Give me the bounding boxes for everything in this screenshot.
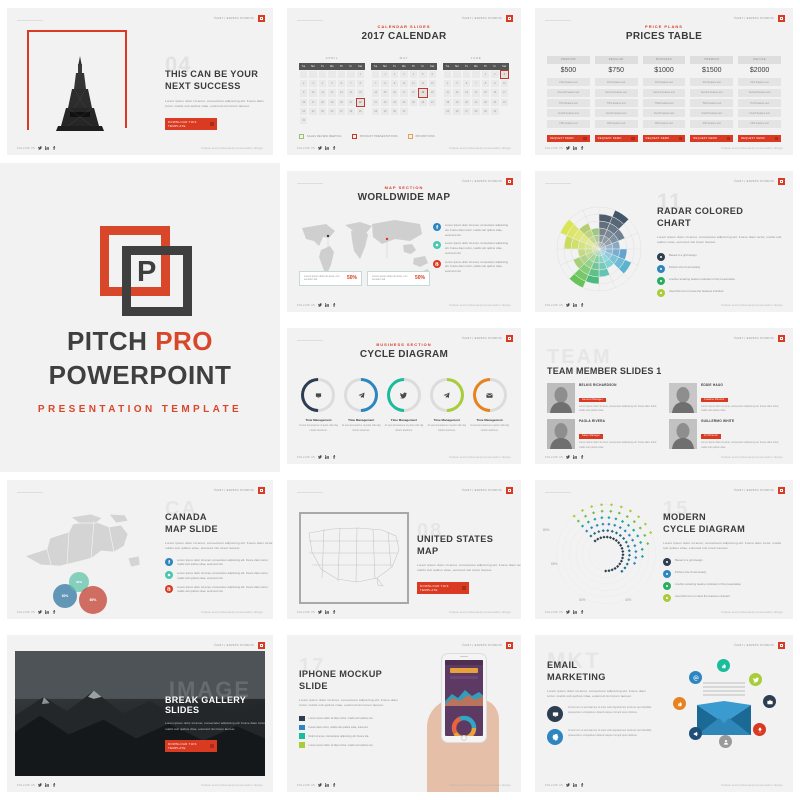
- calendar-day[interactable]: 24: [500, 98, 509, 107]
- plan-feature: First Feature text: [690, 78, 733, 86]
- cycle-step-text: At sed accusamus ut justo odio dig nissi…: [340, 424, 383, 433]
- cycle-heading: BUSINESS SECTION CYCLE DIAGRAM: [287, 342, 521, 360]
- slide-break-gallery[interactable]: ©2017 | ENVATO STUDIOS IMAGE BREAK GALLE…: [7, 635, 273, 792]
- document-lines-icon: [701, 681, 747, 697]
- calendar-day[interactable]: 9: [299, 88, 308, 97]
- gallery-text-block: BREAK GALLERY SLIDES Lorem ipsum dolor s…: [165, 695, 265, 752]
- header-dash: [545, 20, 571, 21]
- header-dash: [17, 20, 43, 21]
- calendar-day[interactable]: 28: [471, 107, 480, 116]
- calendar-day[interactable]: 28: [371, 107, 380, 116]
- home-button[interactable]: [461, 735, 467, 741]
- team-member-card[interactable]: BELKIS RICHARDSONGeneral ManagerLorem ip…: [547, 383, 659, 413]
- slide-modern-cycle[interactable]: ©2017 | ENVATO STUDIOS 80%65%50%40% 15 M…: [535, 480, 793, 619]
- plan-feature: First Feature text: [547, 78, 590, 86]
- slide-calendar[interactable]: ©2017 | ENVATO STUDIOS CALENDAR SLIDES 2…: [287, 8, 521, 155]
- linkedin-icon[interactable]: [325, 146, 329, 150]
- footer-tagline: Unique and professional presentation des…: [201, 611, 263, 614]
- briefcase-icon[interactable]: [763, 695, 776, 708]
- calendar-day[interactable]: 22: [356, 98, 365, 107]
- linkedin-icon[interactable]: [573, 783, 577, 787]
- facebook-icon: [433, 223, 441, 231]
- facebook-icon[interactable]: [580, 610, 584, 614]
- avatar: [669, 383, 697, 413]
- linkedin-icon[interactable]: [325, 455, 329, 459]
- calendar-day[interactable]: 6: [462, 79, 471, 88]
- twitter-icon[interactable]: [318, 303, 322, 307]
- member-name: GUILLERMO WHITE: [701, 419, 781, 423]
- twitter-icon[interactable]: [38, 610, 42, 614]
- team-member-card[interactable]: GUILLERMO WHITEArt DirectorLorem ipsum d…: [669, 419, 781, 449]
- slide-next-success[interactable]: ©2017 | ENVATO STUDIOS 04 THIS CAN BE YO…: [7, 8, 273, 155]
- calendar-day[interactable]: 14: [346, 88, 355, 97]
- calendar-day[interactable]: 17: [399, 88, 408, 97]
- linkedin-icon[interactable]: [325, 610, 329, 614]
- download-arrow-icon: [210, 744, 214, 748]
- bullet-text: Lorem ipsum dolor sit amet, consectetur …: [445, 223, 511, 237]
- brand-mark-icon: [258, 487, 265, 494]
- plan-feature: Third Feature text: [643, 99, 686, 107]
- calendar-day[interactable]: 1: [356, 70, 365, 79]
- slide-united-states-map[interactable]: ©2017 | ENVATO STUDIOS 08 UNITED STATES …: [287, 480, 521, 619]
- slide-cycle-diagram[interactable]: ©2017 | ENVATO STUDIOS BUSINESS SECTION …: [287, 328, 521, 464]
- calendar-day[interactable]: 27: [428, 98, 437, 107]
- team-member-card[interactable]: PAOLA RIVERASales ManagerLorem ipsum dol…: [547, 419, 659, 449]
- calendar-day[interactable]: 11: [409, 79, 418, 88]
- calendar-day[interactable]: 18: [318, 98, 327, 107]
- hero-title-line2: POWERPOINT: [49, 360, 232, 391]
- slide-title-line2: NEXT SUCCESS: [165, 80, 273, 92]
- download-button[interactable]: DOWNLOAD THIS TEMPLATE: [417, 582, 469, 594]
- user-icon[interactable]: [719, 735, 732, 748]
- calendar-day[interactable]: 18: [443, 98, 452, 107]
- price-column: REGULAR$750First Feature textSecond Feat…: [595, 56, 638, 142]
- cycle-step-heading: Time Management: [340, 418, 383, 422]
- team-member-info: BELKIS RICHARDSONGeneral ManagerLorem ip…: [579, 383, 659, 413]
- calendar-day[interactable]: 9: [390, 79, 399, 88]
- at-icon[interactable]: [689, 671, 702, 684]
- calendar-day[interactable]: 2: [390, 70, 399, 79]
- slide-footer: FOLLOW US Unique and professional presen…: [297, 610, 511, 614]
- calendar-day[interactable]: 20: [462, 98, 471, 107]
- slide-header: ©2017 | ENVATO STUDIOS: [214, 642, 265, 649]
- facebook-icon[interactable]: [52, 610, 56, 614]
- follow-us-label: FOLLOW US: [17, 784, 35, 787]
- follow-us-label: FOLLOW US: [545, 304, 563, 307]
- calendar-blank: [452, 70, 461, 79]
- bullet-item: Lorem ipsum dolor sit amet, consectetur …: [433, 241, 511, 255]
- calendar-day[interactable]: 5: [418, 70, 427, 79]
- calendar-day[interactable]: 29: [380, 107, 389, 116]
- team-member-card[interactable]: EDDIE HAUGCreative DirectorLorem ipsum d…: [669, 383, 781, 413]
- calendar-day[interactable]: 15: [481, 88, 490, 97]
- slide-worldwide-map[interactable]: ©2017 | ENVATO STUDIOS MAP SECTION WORLD…: [287, 171, 521, 312]
- cycle-step[interactable]: Time ManagementAt sed accusamus ut justo…: [425, 378, 468, 433]
- slide-header: ©2017 | ENVATO STUDIOS: [214, 15, 265, 22]
- slide-team-members[interactable]: ©2017 | ENVATO STUDIOS TEAM TEAM MEMBER …: [535, 328, 793, 464]
- weekday-header: Sat: [356, 63, 365, 70]
- calendar-day[interactable]: 22: [481, 98, 490, 107]
- calendar-day[interactable]: 19: [452, 98, 461, 107]
- plan-feature: Fourth Feature text: [738, 109, 781, 117]
- calendar-day[interactable]: 30: [490, 107, 499, 116]
- calendar-legend-item: PROMOTIONS: [408, 134, 435, 139]
- request-demo-label: REQUEST DEMO: [693, 137, 717, 140]
- follow-us-label: FOLLOW US: [17, 147, 35, 150]
- calendar-day[interactable]: 26: [452, 107, 461, 116]
- footer-tagline: Unique and professional presentation des…: [449, 611, 511, 614]
- facebook-icon[interactable]: [580, 455, 584, 459]
- facebook-icon[interactable]: [332, 303, 336, 307]
- modern-text-block: 15 MODERN CYCLE DIAGRAM Lorem ipsum dolo…: [663, 500, 785, 606]
- twitter-icon[interactable]: [566, 783, 570, 787]
- calendar-blank: [471, 70, 480, 79]
- linkedin-icon[interactable]: [573, 146, 577, 150]
- arrow-icon: [679, 137, 682, 140]
- slide-title-line2: SLIDES: [165, 705, 265, 715]
- slide-title-line1: BREAK GALLERY: [165, 695, 265, 705]
- calendar-day[interactable]: 18: [409, 88, 418, 97]
- linkedin-icon[interactable]: [573, 455, 577, 459]
- linkedin-icon[interactable]: [45, 783, 49, 787]
- member-bio: Lorem ipsum dolor sit amet, consectetur …: [701, 441, 781, 449]
- calendar-day[interactable]: 22: [380, 98, 389, 107]
- linkedin-icon[interactable]: [573, 610, 577, 614]
- cycle-step-heading: Time Management: [425, 418, 468, 422]
- header-credit: ©2017 | ENVATO STUDIOS: [462, 337, 502, 340]
- calendar-day[interactable]: 12: [418, 79, 427, 88]
- calendar-day[interactable]: 2: [490, 70, 499, 79]
- calendar-day[interactable]: 4: [409, 70, 418, 79]
- slide-body-text: Lorem ipsum dolor sit amet, consectetur …: [299, 698, 405, 709]
- bullet-text: Perfect size fit accurately: [669, 265, 700, 273]
- slide-body-text: Lorem ipsum dolor sit amet, consectetur …: [663, 541, 785, 552]
- calendar-day[interactable]: 1: [481, 70, 490, 79]
- calendar-day[interactable]: 11: [318, 88, 327, 97]
- slide-radar-chart[interactable]: ©2017 | ENVATO STUDIOS 11 RADAR COLORED …: [535, 171, 793, 312]
- facebook-icon: [165, 558, 173, 566]
- bullet-item: Another amazing feature included in this…: [657, 277, 782, 285]
- calendar-day[interactable]: 29: [356, 107, 365, 116]
- avatar: [547, 419, 575, 449]
- download-button[interactable]: DOWNLOAD THIS TEMPLATE: [165, 740, 217, 752]
- radar-text-block: 11 RADAR COLORED CHART Lorem ipsum dolor…: [657, 193, 782, 301]
- linkedin-icon[interactable]: [325, 783, 329, 787]
- calendar-day[interactable]: 16: [490, 88, 499, 97]
- plan-price: $1500: [690, 66, 733, 76]
- calendar-blank: [327, 70, 336, 79]
- calendar-day[interactable]: 2: [299, 79, 308, 88]
- plan-feature: Third Feature text: [547, 99, 590, 107]
- price-columns: PREMIUM$500First Feature textSecond Feat…: [547, 56, 781, 142]
- download-arrow-icon: [462, 586, 466, 590]
- slide-text-block: 04 THIS CAN BE YOUR NEXT SUCCESS Lorem i…: [165, 56, 273, 130]
- calendar-day[interactable]: 13: [337, 88, 346, 97]
- request-demo-button[interactable]: REQUEST DEMO: [690, 135, 733, 142]
- calendar-day[interactable]: 16: [390, 88, 399, 97]
- circle-icon: [433, 241, 441, 249]
- slide-footer: FOLLOW US Unique and professional presen…: [17, 610, 263, 614]
- twitter-icon[interactable]: [318, 610, 322, 614]
- legend-label: PRODUCT PRESENTATIONS: [360, 135, 398, 138]
- slide-iphone-mockup[interactable]: ©2017 | ENVATO STUDIOS 17 IPHONE MOCKUP …: [287, 635, 521, 792]
- header-dash: [545, 183, 571, 184]
- slide-title-line2: MAP SLIDE: [165, 523, 273, 535]
- facebook-icon[interactable]: [580, 783, 584, 787]
- plan-price: $500: [547, 66, 590, 76]
- bullet-item: Another amazing feature included in this…: [663, 582, 785, 590]
- request-demo-label: REQUEST DEMO: [646, 137, 670, 140]
- calendar-day[interactable]: 27: [462, 107, 471, 116]
- slide-title-line1: MODERN: [663, 511, 785, 523]
- request-demo-button[interactable]: REQUEST DEMO: [547, 135, 590, 142]
- calendar-day[interactable]: 6: [337, 79, 346, 88]
- download-button[interactable]: DOWNLOAD THIS TEMPLATE: [165, 118, 217, 130]
- twitter-icon[interactable]: [566, 610, 570, 614]
- calendar-day[interactable]: 21: [471, 98, 480, 107]
- slide-footer: FOLLOW US Unique and professional presen…: [17, 783, 263, 787]
- header-credit: ©2017 | ENVATO STUDIOS: [214, 489, 254, 492]
- slide-footer: FOLLOW US Unique and professional presen…: [545, 455, 783, 459]
- calendar-day[interactable]: 20: [337, 98, 346, 107]
- twitter-icon[interactable]: [318, 783, 322, 787]
- bullet-dot-icon: [663, 558, 671, 566]
- plan-name: PREMIUM: [547, 56, 590, 64]
- rocket-icon[interactable]: [753, 723, 766, 736]
- calendar-day[interactable]: 24: [308, 107, 317, 116]
- calendar-day[interactable]: 13: [428, 79, 437, 88]
- facebook-icon[interactable]: [332, 455, 336, 459]
- price-column: DELUXE$2000First Feature textSecond Feat…: [738, 56, 781, 142]
- legend-swatch-icon: [299, 134, 304, 139]
- slide-body-text: Lorem ipsum dolor sit amet, consectetur …: [165, 541, 273, 552]
- slide-body-text: Lorem ipsum dolor sit amet, consectetur …: [657, 235, 782, 246]
- header-dash: [545, 492, 571, 493]
- iphone-text-block: 17 IPHONE MOCKUP SLIDE Lorem ipsum dolor…: [299, 657, 405, 751]
- calendar-day[interactable]: 9: [490, 79, 499, 88]
- legend-swatch-icon: [299, 733, 305, 739]
- follow-us-label: FOLLOW US: [17, 611, 35, 614]
- cycle-step[interactable]: Time ManagementAt sed accusamus ut justo…: [383, 378, 426, 433]
- calendar-day[interactable]: 12: [327, 88, 336, 97]
- twitter-icon[interactable]: [566, 303, 570, 307]
- calendar-day[interactable]: 27: [337, 107, 346, 116]
- header-credit: ©2017 | ENVATO STUDIOS: [734, 17, 774, 20]
- bullet-item: Based in a grid design: [657, 253, 782, 261]
- calendar-day[interactable]: 13: [462, 88, 471, 97]
- slide-header: ©2017 | ENVATO STUDIOS: [734, 642, 785, 649]
- slide-footer: FOLLOW US Unique and professional presen…: [545, 303, 783, 307]
- calendar-day[interactable]: 10: [500, 79, 509, 88]
- linkedin-icon[interactable]: [325, 303, 329, 307]
- plan-name: REGULAR: [595, 56, 638, 64]
- calendar-day[interactable]: 19: [418, 88, 427, 97]
- calendar-day[interactable]: 25: [318, 107, 327, 116]
- brand-mark-icon: [778, 178, 785, 185]
- download-arrow-icon: [210, 122, 214, 126]
- bullet-item: Perfect size fit accurately: [657, 265, 782, 273]
- cycle-step[interactable]: Time ManagementAt sed accusamus ut justo…: [468, 378, 511, 433]
- member-name: EDDIE HAUG: [701, 383, 781, 387]
- facebook-icon[interactable]: [332, 783, 336, 787]
- calendar-day[interactable]: 7: [371, 79, 380, 88]
- calendar-day[interactable]: 16: [299, 98, 308, 107]
- calendar-day[interactable]: 19: [327, 98, 336, 107]
- twitter-icon[interactable]: [38, 783, 42, 787]
- calendar-day[interactable]: 30: [390, 107, 399, 116]
- cycle-step[interactable]: Time ManagementAt sed accusamus ut justo…: [340, 378, 383, 433]
- request-demo-label: REQUEST DEMO: [741, 137, 765, 140]
- calendar-day[interactable]: 14: [471, 88, 480, 97]
- pitch-pro-logo-icon: P: [92, 220, 188, 312]
- map-callout-text: Lorem ipsum dolor sit amet, con sectetur…: [372, 275, 412, 283]
- member-role-badge: Art Director: [701, 434, 721, 438]
- facebook-icon[interactable]: [52, 783, 56, 787]
- slide-body-text: Lorem ipsum dolor sit amet, consectetur …: [165, 99, 270, 110]
- slide-canada-map[interactable]: ©2017 | ENVATO STUDIOS 80% 60% 80% CA CA…: [7, 480, 273, 619]
- linkedin-icon[interactable]: [45, 146, 49, 150]
- slide-prices-table[interactable]: ©2017 | ENVATO STUDIOS PRICE PLANS PRICE…: [535, 8, 793, 155]
- cycle-ring: [344, 378, 378, 412]
- like-icon[interactable]: [673, 697, 686, 710]
- footer-tagline: Unique and professional presentation des…: [721, 304, 783, 307]
- calendar-day[interactable]: 24: [399, 98, 408, 107]
- twitter-icon[interactable]: [318, 146, 322, 150]
- calendar-day[interactable]: 7: [471, 79, 480, 88]
- weekday-header: We: [471, 63, 480, 70]
- slide-footer: FOLLOW US Unique and professional presen…: [297, 783, 511, 787]
- megaphone-icon[interactable]: [689, 727, 702, 740]
- request-demo-button[interactable]: REQUEST DEMO: [643, 135, 686, 142]
- footer-tagline: Unique and professional presentation des…: [721, 456, 783, 459]
- brand-mark-icon: [506, 178, 513, 185]
- phone-area-chart: [445, 684, 483, 706]
- request-demo-button[interactable]: REQUEST DEMO: [595, 135, 638, 142]
- calendar-day[interactable]: 4: [318, 79, 327, 88]
- calendar-day[interactable]: 23: [490, 98, 499, 107]
- calendar-day[interactable]: 5: [452, 79, 461, 88]
- calendar-day[interactable]: 15: [380, 88, 389, 97]
- weekday-header: Tu: [390, 63, 399, 70]
- twitter-icon[interactable]: [566, 146, 570, 150]
- plan-feature: Fifth Feature text: [690, 120, 733, 128]
- brand-mark-icon: [258, 15, 265, 22]
- calendar-day[interactable]: 28: [346, 107, 355, 116]
- calendar-blank: [318, 70, 327, 79]
- cycle-step-text: At sed accusamus ut justo odio dig nissi…: [383, 424, 426, 433]
- calendar-day[interactable]: 15: [356, 88, 365, 97]
- calendar-day[interactable]: 1: [380, 70, 389, 79]
- calendar-day[interactable]: 7: [346, 79, 355, 88]
- calendar-day[interactable]: 8: [356, 79, 365, 88]
- slide-header: ©2017 | ENVATO STUDIOS: [734, 487, 785, 494]
- calendar-day[interactable]: 30: [299, 116, 308, 125]
- request-demo-button[interactable]: REQUEST DEMO: [738, 135, 781, 142]
- calendar-day[interactable]: 17: [308, 98, 317, 107]
- slide-title-line1: CANADA: [165, 511, 273, 523]
- facebook-icon[interactable]: [52, 146, 56, 150]
- calendar-day[interactable]: 17: [500, 88, 509, 97]
- calendar-day[interactable]: 23: [390, 98, 399, 107]
- calendar-day[interactable]: 23: [299, 107, 308, 116]
- calendar-day[interactable]: 21: [371, 98, 380, 107]
- plan-feature: Fifth Feature text: [547, 120, 590, 128]
- slide-title-line2: MARKETING: [547, 671, 652, 683]
- calendar-day[interactable]: 3: [399, 70, 408, 79]
- calendar-day[interactable]: 3: [308, 79, 317, 88]
- member-name: BELKIS RICHARDSON: [579, 383, 659, 387]
- slide-kicker: PRICE PLANS: [535, 24, 793, 29]
- team-member-grid: BELKIS RICHARDSONGeneral ManagerLorem ip…: [547, 383, 781, 450]
- twitter-icon[interactable]: [38, 146, 42, 150]
- calendar-day[interactable]: 11: [443, 88, 452, 97]
- cycle-percent-label: 80%: [543, 528, 549, 532]
- calendar-day[interactable]: 10: [308, 88, 317, 97]
- header-credit: ©2017 | ENVATO STUDIOS: [734, 644, 774, 647]
- calendar-day[interactable]: 3: [500, 70, 509, 79]
- bullet-item: Lorem ipsum dolor sit amet, consectetur …: [165, 558, 273, 568]
- calendar-months: APRILSuMoTuWeThFrSat 1234567891011121314…: [299, 56, 509, 125]
- calendar-day[interactable]: 26: [327, 107, 336, 116]
- slide-header: ©2017 | ENVATO STUDIOS: [462, 642, 513, 649]
- us-text-block: 08 UNITED STATES MAP Lorem ipsum dolor s…: [417, 522, 521, 594]
- facebook-icon[interactable]: [580, 146, 584, 150]
- calendar-day[interactable]: 5: [327, 79, 336, 88]
- twitter-icon[interactable]: [318, 455, 322, 459]
- slide-title-line2: SLIDE: [299, 680, 405, 692]
- calendar-day[interactable]: 25: [443, 107, 452, 116]
- thumbs-up-icon[interactable]: [717, 659, 730, 672]
- calendar-day[interactable]: 26: [418, 98, 427, 107]
- calendar-day[interactable]: 8: [380, 79, 389, 88]
- cycle-step[interactable]: Time ManagementAt sed accusamus ut justo…: [297, 378, 340, 433]
- calendar-day[interactable]: 12: [452, 88, 461, 97]
- calendar-day[interactable]: 20: [428, 88, 437, 97]
- hero-logo-panel: P PITCH PRO POWERPOINT PRESENTATION TEMP…: [0, 163, 280, 472]
- footer-tagline: Unique and professional presentation des…: [201, 784, 263, 787]
- weekday-header: We: [327, 63, 336, 70]
- header-dash: [297, 492, 323, 493]
- calendar-day[interactable]: 31: [399, 107, 408, 116]
- bullet-item: Lorem ipsum dolor sit amet, consectetur …: [165, 585, 273, 595]
- slide-email-marketing[interactable]: ©2017 | ENVATO STUDIOS MKT EMAIL MARKETI…: [535, 635, 793, 792]
- legend-swatch-icon: [408, 134, 413, 139]
- calendar-day[interactable]: 29: [481, 107, 490, 116]
- arrow-icon: [727, 137, 730, 140]
- facebook-icon[interactable]: [332, 146, 336, 150]
- calendar-day[interactable]: 4: [443, 79, 452, 88]
- calendar-day[interactable]: 14: [371, 88, 380, 97]
- plan-feature: Second Feature text: [595, 89, 638, 97]
- twitter-icon[interactable]: [749, 673, 762, 686]
- slide-body-text: Lorem ipsum dolor sit amet, consectetur …: [417, 563, 521, 574]
- facebook-icon[interactable]: [332, 610, 336, 614]
- arrow-icon: [583, 137, 586, 140]
- calendar-day[interactable]: 25: [409, 98, 418, 107]
- bullet-text: Lorem ipsum dolor sit amet, consectetur …: [177, 558, 273, 568]
- twitter-icon[interactable]: [566, 455, 570, 459]
- linkedin-icon[interactable]: [573, 303, 577, 307]
- slide-footer: FOLLOW US Unique and professional presen…: [297, 303, 511, 307]
- calendar-day[interactable]: 6: [428, 70, 437, 79]
- calendar-day[interactable]: 8: [481, 79, 490, 88]
- bullet-item: Used this icon to show the features incl…: [663, 594, 785, 602]
- calendar-day[interactable]: 10: [399, 79, 408, 88]
- calendar-day[interactable]: 21: [346, 98, 355, 107]
- canada-text-block: CA CANADA MAP SLIDE Lorem ipsum dolor si…: [165, 500, 273, 598]
- facebook-icon[interactable]: [580, 303, 584, 307]
- linkedin-icon[interactable]: [45, 610, 49, 614]
